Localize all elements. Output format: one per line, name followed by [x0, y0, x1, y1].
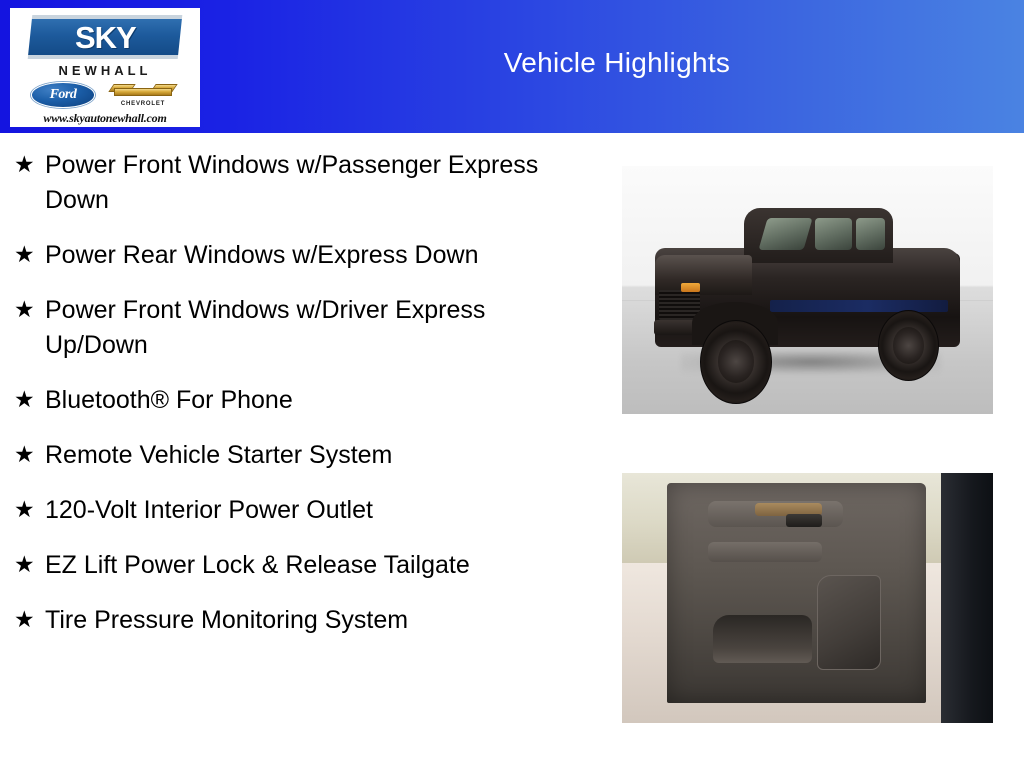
star-bullet-icon: ★: [14, 293, 45, 326]
chevrolet-wordmark: CHEVROLET: [121, 101, 165, 107]
sky-banner-logo: SKY: [28, 15, 183, 59]
star-bullet-icon: ★: [14, 493, 45, 526]
star-bullet-icon: ★: [14, 148, 45, 181]
dealer-logo[interactable]: SKY NEWHALL Ford CHEVROLET www.skyautone…: [10, 8, 200, 127]
feature-label: Bluetooth® For Phone: [45, 383, 570, 418]
content-area: ★ Power Front Windows w/Passenger Expres…: [0, 133, 1024, 768]
door-speaker-panel: [817, 575, 881, 669]
sky-wordmark: SKY: [75, 22, 136, 53]
star-bullet-icon: ★: [14, 603, 45, 636]
list-item: ★ Power Front Windows w/Driver Express U…: [0, 293, 605, 363]
exterior-truck-photo[interactable]: [622, 166, 993, 414]
dealer-website-url: www.skyautonewhall.com: [43, 112, 166, 124]
headlight: [681, 283, 700, 293]
interior-door-panel-photo[interactable]: [622, 473, 993, 723]
list-item: ★ EZ Lift Power Lock & Release Tailgate: [0, 548, 605, 583]
star-bullet-icon: ★: [14, 238, 45, 271]
star-bullet-icon: ★: [14, 438, 45, 471]
list-item: ★ Bluetooth® For Phone: [0, 383, 605, 418]
chevrolet-bowtie-icon: [110, 83, 176, 100]
list-item: ★ Remote Vehicle Starter System: [0, 438, 605, 473]
list-item: ★ Power Front Windows w/Passenger Expres…: [0, 148, 605, 218]
list-item: ★ Power Rear Windows w/Express Down: [0, 238, 605, 273]
front-door-glass: [815, 218, 852, 250]
feature-label: Power Front Windows w/Driver Express Up/…: [45, 293, 570, 363]
page-header: SKY NEWHALL Ford CHEVROLET www.skyautone…: [0, 0, 1024, 133]
brand-logos-row: Ford CHEVROLET: [25, 82, 185, 108]
feature-label: Tire Pressure Monitoring System: [45, 603, 570, 638]
dealer-location-text: NEWHALL: [59, 64, 152, 77]
feature-label: EZ Lift Power Lock & Release Tailgate: [45, 548, 570, 583]
chevrolet-logo-icon: CHEVROLET: [107, 83, 179, 107]
door-panel: [667, 483, 927, 703]
feature-label: Remote Vehicle Starter System: [45, 438, 570, 473]
upper-door-pocket: [708, 542, 822, 562]
lower-door-pocket: [713, 615, 812, 663]
list-item: ★ 120-Volt Interior Power Outlet: [0, 493, 605, 528]
list-item: ★ Tire Pressure Monitoring System: [0, 603, 605, 638]
star-bullet-icon: ★: [14, 383, 45, 416]
page-title: Vehicle Highlights: [210, 0, 1024, 133]
feature-label: Power Rear Windows w/Express Down: [45, 238, 570, 273]
rear-door-glass: [856, 218, 886, 250]
feature-label: Power Front Windows w/Passenger Express …: [45, 148, 570, 218]
door-handle: [786, 514, 822, 527]
windshield-glass: [758, 218, 812, 250]
truck-hood: [655, 255, 751, 295]
ford-logo-icon: Ford: [31, 82, 95, 108]
front-wheel: [700, 320, 772, 404]
body-side-stripe: [770, 300, 948, 312]
door-frame-edge: [941, 473, 993, 723]
feature-label: 120-Volt Interior Power Outlet: [45, 493, 570, 528]
ford-wordmark: Ford: [50, 88, 77, 102]
vehicle-features-list: ★ Power Front Windows w/Passenger Expres…: [0, 133, 605, 638]
star-bullet-icon: ★: [14, 548, 45, 581]
